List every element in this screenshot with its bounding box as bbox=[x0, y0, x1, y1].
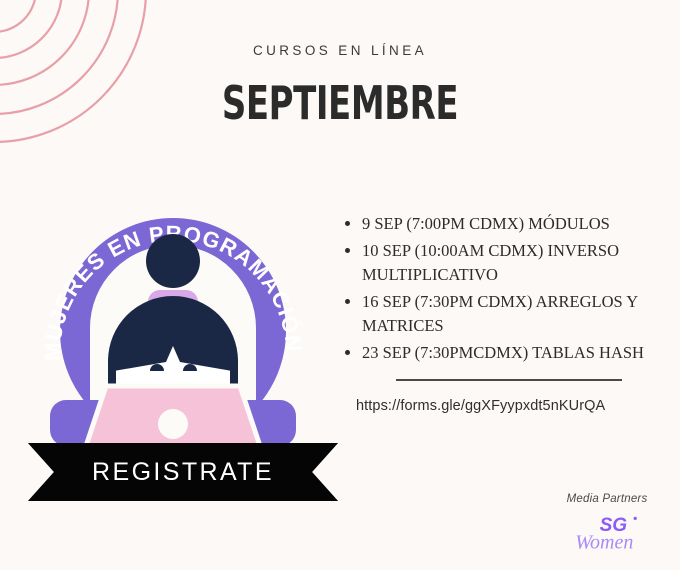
sg-women-logo-script: Women bbox=[575, 531, 633, 553]
poster-header: CURSOS EN LÍNEA SEPTIEMBRE bbox=[0, 44, 680, 126]
laptop-logo bbox=[158, 409, 188, 439]
registrate-banner[interactable]: REGISTRATE bbox=[28, 443, 338, 501]
page-title: SEPTIEMBRE bbox=[61, 80, 619, 126]
schedule-content: 9 SEP (7:00PM CDMX) MÓDULOS 10 SEP (10:0… bbox=[344, 212, 676, 414]
badge-mujeres-en-programacion: MUJERES EN PROGRAMACIÓN; bbox=[28, 186, 318, 476]
header-kicker: CURSOS EN LÍNEA bbox=[0, 44, 680, 58]
media-partners-label: Media Partners bbox=[542, 493, 672, 505]
list-item: 16 SEP (7:30PM CDMX) ARREGLOS Y MATRICES bbox=[362, 290, 676, 338]
media-partners: Media Partners SG Women bbox=[542, 493, 672, 558]
hair-bun bbox=[146, 234, 200, 288]
list-item: 9 SEP (7:00PM CDMX) MÓDULOS bbox=[362, 212, 676, 236]
registrate-label: REGISTRATE bbox=[28, 443, 338, 501]
course-date-list: 9 SEP (7:00PM CDMX) MÓDULOS 10 SEP (10:0… bbox=[344, 212, 676, 365]
list-item: 10 SEP (10:00AM CDMX) INVERSO MULTIPLICA… bbox=[362, 239, 676, 287]
sg-logo-dot bbox=[634, 517, 637, 520]
list-item: 23 SEP (7:30PMCDMX) TABLAS HASH bbox=[362, 341, 676, 365]
arc-ring-1 bbox=[0, 0, 36, 32]
sg-women-logo: SG Women bbox=[542, 511, 672, 558]
registration-url[interactable]: https://forms.gle/ggXFyypxdt5nKUrQA bbox=[356, 398, 676, 414]
poster-canvas: CURSOS EN LÍNEA SEPTIEMBRE MUJERES EN PR… bbox=[0, 0, 680, 570]
content-divider bbox=[396, 379, 622, 382]
